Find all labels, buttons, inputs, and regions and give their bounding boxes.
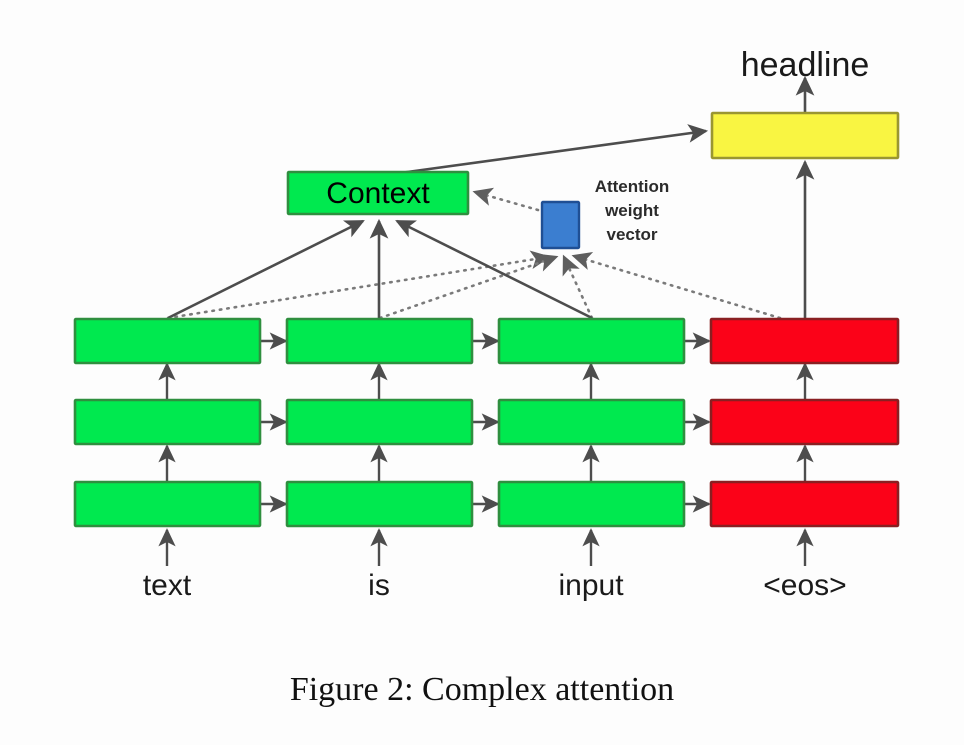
cell-r1c1[interactable] [75, 482, 260, 526]
attention-diagram: Context Attention weight vector headline… [0, 0, 964, 745]
cell-r3c3[interactable] [499, 319, 684, 363]
annotation-line-3: vector [606, 225, 657, 244]
attention-dotted-edges [168, 192, 780, 318]
output-box[interactable] [712, 113, 898, 158]
context-node[interactable]: Context [288, 172, 468, 214]
headline-label: headline [741, 46, 870, 84]
cell-r1c3[interactable] [499, 482, 684, 526]
cell-r1c2[interactable] [287, 482, 472, 526]
cell-r1c4[interactable] [711, 482, 898, 526]
cell-r2c1[interactable] [75, 400, 260, 444]
dotted-edge-r3c1-to-attention [168, 257, 548, 318]
token-label-eos: <eos> [763, 569, 846, 602]
cell-r2c2[interactable] [287, 400, 472, 444]
dotted-edge-attention-to-context [475, 192, 538, 210]
cell-r3c2[interactable] [287, 319, 472, 363]
token-label-text: text [143, 569, 192, 602]
attention-weight-vector-box[interactable] [542, 202, 579, 248]
figure-container: Context Attention weight vector headline… [0, 0, 964, 745]
input-token-labels: text is input <eos> [143, 569, 847, 602]
token-label-input: input [558, 569, 624, 602]
token-label-is: is [368, 569, 390, 602]
cell-r3c1[interactable] [75, 319, 260, 363]
attention-annotation: Attention weight vector [595, 177, 670, 244]
cell-r2c3[interactable] [499, 400, 684, 444]
attention-weight-vector-node[interactable] [542, 202, 579, 248]
figure-caption: Figure 2: Complex attention [290, 671, 674, 708]
dotted-edge-r3c3-to-attention [564, 257, 592, 318]
annotation-line-2: weight [604, 201, 659, 220]
output-node[interactable] [712, 113, 898, 158]
edge-context-to-output [400, 131, 706, 173]
dotted-edge-r3c4-to-attention [574, 256, 780, 318]
cell-r2c4[interactable] [711, 400, 898, 444]
vertical-stack-edges [167, 364, 805, 566]
annotation-line-1: Attention [595, 177, 670, 196]
context-label: Context [326, 177, 430, 210]
cell-r3c4[interactable] [711, 319, 898, 363]
